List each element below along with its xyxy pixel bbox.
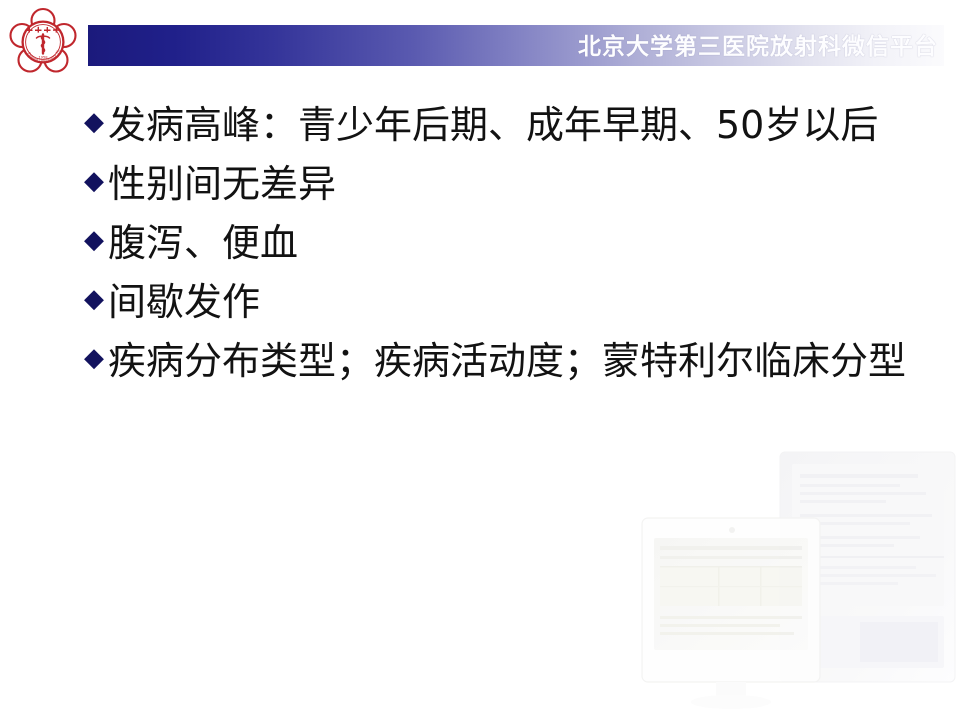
diamond-bullet-icon: ◆ <box>84 282 108 316</box>
bullet-item-5: ◆ 疾病分布类型；疾病活动度；蒙特利尔临床分型 <box>84 336 944 387</box>
bullet-item-4: ◆ 间歇发作 <box>84 277 944 328</box>
bullet-text-3: 腹泻、便血 <box>108 218 944 269</box>
bullet-text-1: 发病高峰：青少年后期、成年早期、50岁以后 <box>108 100 918 151</box>
slide-canvas: 北京大学第三医院放射科微信平台 <box>0 0 960 720</box>
diamond-bullet-icon: ◆ <box>84 341 108 375</box>
diamond-bullet-icon: ◆ <box>84 164 108 198</box>
bullet-text-5: 疾病分布类型；疾病活动度；蒙特利尔临床分型 <box>108 336 918 387</box>
bullet-text-2: 性别间无差异 <box>108 159 944 210</box>
diamond-bullet-icon: ◆ <box>84 105 108 139</box>
hospital-logo: 1958 Peking University Third Hospital <box>6 5 80 79</box>
header-title: 北京大学第三医院放射科微信平台 <box>578 27 938 65</box>
slide-header: 北京大学第三医院放射科微信平台 <box>0 0 960 92</box>
computer-monitors-watermark <box>620 440 960 720</box>
bullet-item-2: ◆ 性别间无差异 <box>84 159 944 210</box>
slide-body: ◆ 发病高峰：青少年后期、成年早期、50岁以后 ◆ 性别间无差异 ◆ 腹泻、便血… <box>84 100 944 395</box>
bullet-text-4: 间歇发作 <box>108 277 944 328</box>
diamond-bullet-icon: ◆ <box>84 223 108 257</box>
bullet-item-1: ◆ 发病高峰：青少年后期、成年早期、50岁以后 <box>84 100 944 151</box>
bullet-item-3: ◆ 腹泻、便血 <box>84 218 944 269</box>
